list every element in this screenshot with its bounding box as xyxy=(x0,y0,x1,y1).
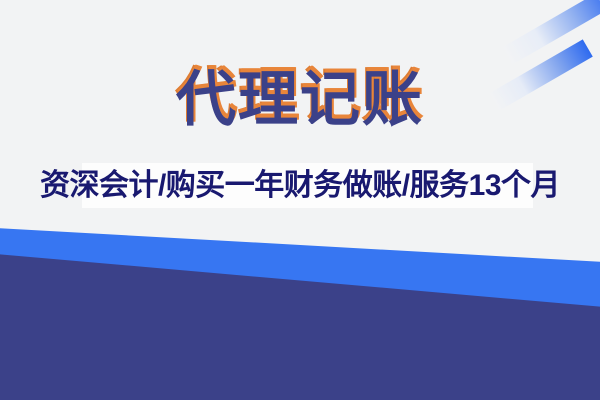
banner-subtitle-container: 资深会计/购买一年财务做账/服务13个月 xyxy=(0,166,600,208)
banner-title: 代理记账 xyxy=(176,66,424,134)
promo-banner: 代理记账 资深会计/购买一年财务做账/服务13个月 xyxy=(0,0,600,400)
banner-title-container: 代理记账 xyxy=(0,66,600,138)
banner-subtitle: 资深会计/购买一年财务做账/服务13个月 xyxy=(40,166,560,206)
